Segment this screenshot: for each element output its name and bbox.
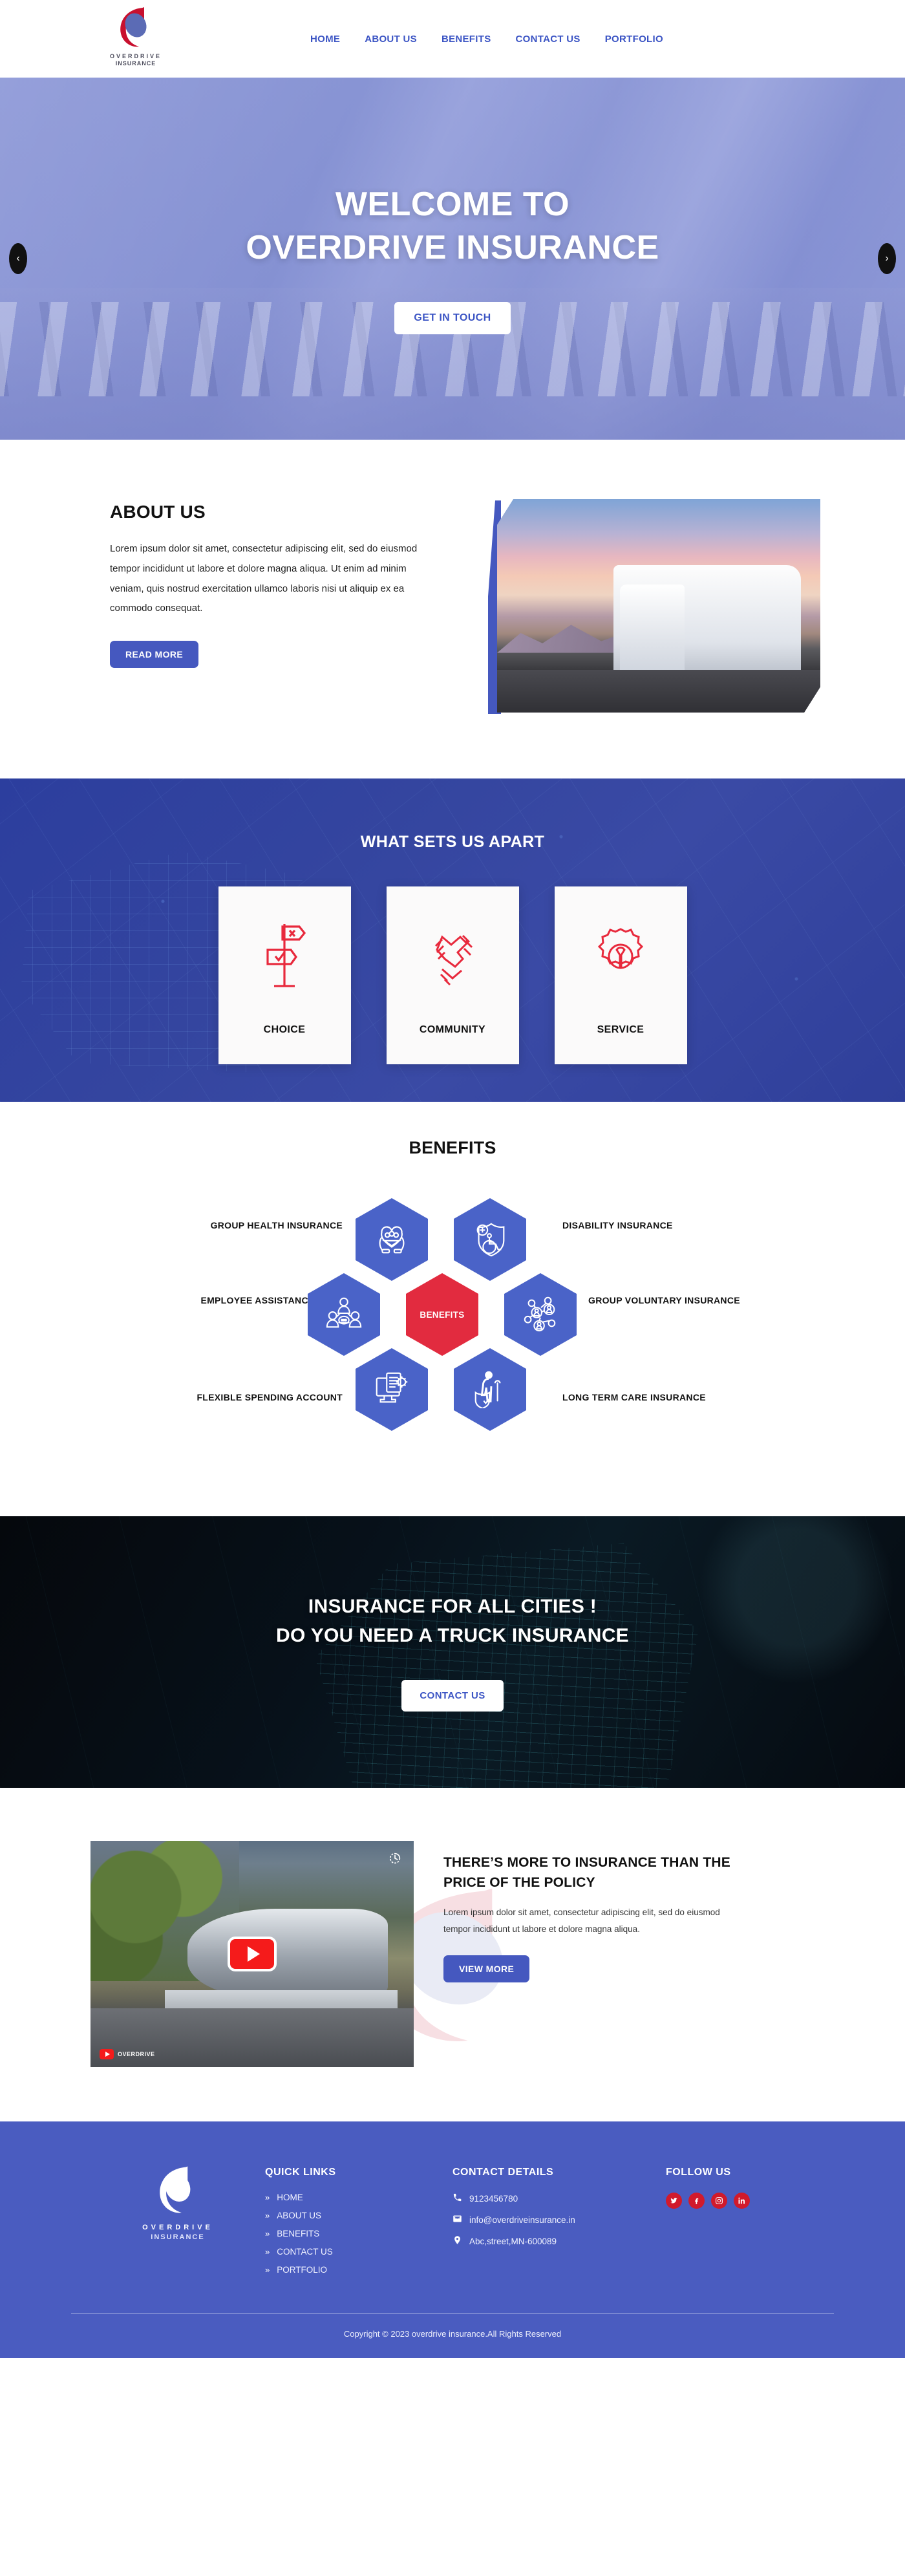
footer-link-home[interactable]: » HOME	[265, 2193, 452, 2202]
about-truck-image	[497, 499, 820, 713]
contact-us-button[interactable]: CONTACT US	[401, 1680, 503, 1712]
nav-item-contact-us[interactable]: CONTACT US	[516, 34, 580, 45]
apart-card-community[interactable]: COMMUNITY	[387, 886, 519, 1064]
video-heading: THERE’S MORE TO INSURANCE THAN THE PRICE…	[443, 1852, 747, 1893]
footer-link-contact-us[interactable]: » CONTACT US	[265, 2247, 452, 2257]
monitor-document-gear-icon	[372, 1368, 412, 1411]
instagram-icon[interactable]	[711, 2193, 727, 2209]
double-chevron-icon: »	[265, 2229, 270, 2238]
benefit-label-disability-insurance: DISABILITY INSURANCE	[562, 1219, 776, 1232]
nav-item-about-us[interactable]: ABOUT US	[365, 34, 417, 45]
footer-follow-us: FOLLOW US	[666, 2158, 821, 2209]
carousel-prev-button[interactable]: ‹	[9, 243, 27, 274]
nav-item-benefits[interactable]: BENEFITS	[442, 34, 491, 45]
double-chevron-icon: »	[265, 2265, 270, 2275]
apart-card-label: CHOICE	[264, 1024, 306, 1036]
footer-link-label: BENEFITS	[277, 2229, 319, 2238]
view-more-button[interactable]: VIEW MORE	[443, 1955, 529, 1982]
benefit-hex-long-term-care-insurance[interactable]	[454, 1348, 526, 1431]
get-in-touch-button[interactable]: GET IN TOUCH	[394, 302, 510, 334]
footer-link-label: ABOUT US	[277, 2211, 321, 2220]
benefits-hex-cluster: GROUP HEALTH INSURANCE EMPLOYEE ASSISTAN…	[71, 1185, 834, 1470]
twitter-icon[interactable]	[666, 2193, 682, 2209]
header-logo-sub: INSURANCE	[97, 60, 175, 67]
overdrive-swoosh-logo-icon	[113, 5, 158, 50]
cta-title: INSURANCE FOR ALL CITIES ! DO YOU NEED A…	[276, 1593, 629, 1650]
video-badge-text: OVERDRIVE	[118, 2051, 155, 2057]
quick-links-heading: QUICK LINKS	[265, 2167, 452, 2178]
signpost-choice-icon	[255, 920, 314, 991]
apart-card-label: SERVICE	[597, 1024, 644, 1036]
cta-title-line2: DO YOU NEED A TRUCK INSURANCE	[276, 1622, 629, 1650]
wheelchair-shield-icon	[470, 1218, 510, 1261]
network-people-icon	[520, 1293, 560, 1336]
map-pin-icon	[452, 2235, 462, 2247]
nav-item-portfolio[interactable]: PORTFOLIO	[605, 34, 663, 45]
video-brand-badge: OVERDRIVE	[100, 2049, 155, 2059]
copyright-text: Copyright © 2023 overdrive insurance.All…	[0, 2313, 905, 2358]
double-chevron-icon: »	[265, 2211, 270, 2220]
about-section: ABOUT US Lorem ipsum dolor sit amet, con…	[0, 440, 905, 778]
about-title: ABOUT US	[110, 502, 436, 522]
benefits-title: BENEFITS	[0, 1138, 905, 1158]
elderly-shield-icon	[470, 1368, 510, 1411]
cta-section: INSURANCE FOR ALL CITIES ! DO YOU NEED A…	[0, 1516, 905, 1788]
footer-link-about-us[interactable]: » ABOUT US	[265, 2211, 452, 2220]
what-sets-us-apart-section: WHAT SETS US APART CHOICE	[0, 778, 905, 1102]
footer-phone-value: 9123456780	[469, 2194, 518, 2204]
hero-title-line2: OVERDRIVE INSURANCE	[246, 226, 659, 270]
header-logo[interactable]: OVERDRIVE INSURANCE	[97, 5, 175, 67]
benefits-section: BENEFITS GROUP HEALTH INSURANCE EMPLOYEE…	[0, 1102, 905, 1516]
chevron-right-icon: ›	[885, 253, 888, 264]
footer-logo[interactable]: OVERDRIVE INSURANCE	[71, 2158, 265, 2241]
double-chevron-icon: »	[265, 2193, 270, 2202]
hero-title: WELCOME TO OVERDRIVE INSURANCE	[246, 183, 659, 269]
gear-wrench-icon	[591, 920, 650, 991]
apart-card-label: COMMUNITY	[420, 1024, 485, 1036]
apart-title: WHAT SETS US APART	[0, 833, 905, 852]
footer-email[interactable]: info@overdriveinsurance.in	[452, 2214, 666, 2226]
footer-link-label: PORTFOLIO	[277, 2265, 327, 2275]
video-section: OVERDRIVE THERE’S MORE TO INSURANCE THAN…	[0, 1788, 905, 2121]
footer-phone[interactable]: 9123456780	[452, 2193, 666, 2204]
site-header: OVERDRIVE INSURANCE HOME ABOUT US BENEFI…	[0, 0, 905, 78]
site-footer: OVERDRIVE INSURANCE QUICK LINKS » HOME »…	[0, 2121, 905, 2358]
hero-carousel: ‹ › WELCOME TO OVERDRIVE INSURANCE GET I…	[0, 78, 905, 440]
benefit-label-group-health-insurance: GROUP HEALTH INSURANCE	[142, 1219, 343, 1232]
watch-later-clock-icon[interactable]	[388, 1851, 402, 1869]
footer-quick-links: QUICK LINKS » HOME » ABOUT US » BENEFITS…	[265, 2158, 452, 2283]
overdrive-swoosh-logo-icon	[151, 2164, 204, 2217]
benefit-hex-employee-assistance-plan[interactable]	[308, 1273, 380, 1356]
envelope-icon	[452, 2214, 462, 2226]
facebook-icon[interactable]	[688, 2193, 705, 2209]
carousel-next-button[interactable]: ›	[878, 243, 896, 274]
about-image-block	[488, 490, 814, 723]
benefit-label-group-voluntary-insurance: GROUP VOLUNTARY INSURANCE	[588, 1294, 769, 1307]
footer-logo-sub: INSURANCE	[90, 2233, 265, 2241]
people-chat-icon	[324, 1293, 364, 1336]
footer-email-value: info@overdriveinsurance.in	[469, 2215, 575, 2225]
footer-address: Abc,street,MN-600089	[452, 2235, 666, 2247]
video-body-text: Lorem ipsum dolor sit amet, consectetur …	[443, 1904, 747, 1938]
benefit-hex-group-health-insurance[interactable]	[356, 1198, 428, 1281]
nav-item-home[interactable]: HOME	[310, 34, 340, 45]
footer-address-value: Abc,street,MN-600089	[469, 2237, 557, 2246]
video-player[interactable]: OVERDRIVE	[90, 1841, 414, 2067]
apart-card-service[interactable]: SERVICE	[555, 886, 687, 1064]
play-pill-icon	[100, 2049, 114, 2059]
main-nav: HOME ABOUT US BENEFITS CONTACT US PORTFO…	[310, 34, 663, 45]
benefits-center-label: BENEFITS	[420, 1310, 464, 1320]
phone-icon	[452, 2193, 462, 2204]
footer-contact-details: CONTACT DETAILS 9123456780 info@overdriv…	[452, 2158, 666, 2257]
benefit-label-long-term-care-insurance: LONG TERM CARE INSURANCE	[562, 1391, 782, 1404]
benefit-label-flexible-spending-account: FLEXIBLE SPENDING ACCOUNT	[116, 1391, 343, 1404]
footer-link-label: CONTACT US	[277, 2247, 333, 2257]
youtube-play-button-icon[interactable]	[228, 1937, 277, 1971]
follow-us-heading: FOLLOW US	[666, 2167, 821, 2178]
benefit-hex-flexible-spending-account[interactable]	[356, 1348, 428, 1431]
contact-details-heading: CONTACT DETAILS	[452, 2167, 666, 2178]
about-body-text: Lorem ipsum dolor sit amet, consectetur …	[110, 539, 436, 619]
joined-hands-icon	[423, 920, 482, 991]
cta-title-line1: INSURANCE FOR ALL CITIES !	[276, 1593, 629, 1621]
hands-heart-family-icon	[372, 1218, 412, 1261]
apart-card-choice[interactable]: CHOICE	[218, 886, 351, 1064]
benefit-hex-disability-insurance[interactable]	[454, 1198, 526, 1281]
footer-logo-name: OVERDRIVE	[90, 2224, 265, 2231]
footer-link-benefits[interactable]: » BENEFITS	[265, 2229, 452, 2238]
footer-link-portfolio[interactable]: » PORTFOLIO	[265, 2265, 452, 2275]
chevron-left-icon: ‹	[16, 253, 19, 264]
hero-title-line1: WELCOME TO	[246, 183, 659, 226]
footer-link-label: HOME	[277, 2193, 303, 2202]
benefit-hex-center[interactable]: BENEFITS	[406, 1273, 478, 1356]
linkedin-icon[interactable]	[734, 2193, 750, 2209]
double-chevron-icon: »	[265, 2247, 270, 2257]
header-logo-name: OVERDRIVE	[97, 53, 175, 59]
read-more-button[interactable]: READ MORE	[110, 641, 198, 668]
benefit-hex-group-voluntary-insurance[interactable]	[504, 1273, 577, 1356]
